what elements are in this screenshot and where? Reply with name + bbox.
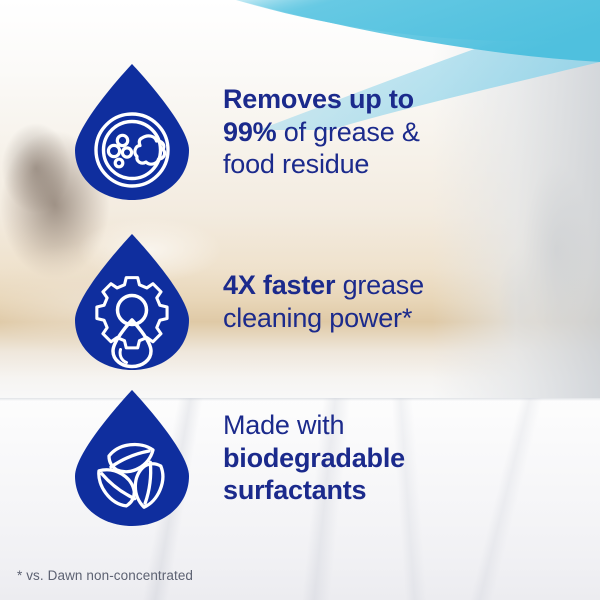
feature-line: surfactants bbox=[223, 474, 405, 507]
droplet-shape bbox=[75, 390, 189, 526]
plate-with-bubbles-icon bbox=[73, 62, 191, 202]
feature-segment: 4X faster bbox=[223, 270, 335, 300]
feature-row-4x-faster: 4X faster grease cleaning power* bbox=[0, 232, 600, 372]
feature-row-biodegradable: Made with biodegradable surfactants bbox=[0, 388, 600, 528]
feature-segment: 99% bbox=[223, 117, 276, 147]
footnote-disclaimer: * vs. Dawn non-concentrated bbox=[17, 568, 193, 583]
feature-segment: of grease & bbox=[276, 117, 419, 147]
droplet-shape bbox=[75, 234, 189, 370]
feature-line: cleaning power* bbox=[223, 302, 424, 335]
feature-text-3: Made with biodegradable surfactants bbox=[223, 409, 405, 507]
feature-text-2: 4X faster grease cleaning power* bbox=[223, 269, 424, 334]
feature-segment: cleaning power* bbox=[223, 303, 412, 333]
feature-line: Made with bbox=[223, 409, 405, 442]
feature-segment: Made with bbox=[223, 410, 344, 440]
poster-canvas: Removes up to 99% of grease & food resid… bbox=[0, 0, 600, 600]
droplet-badge-3 bbox=[73, 388, 191, 528]
feature-line: Removes up to bbox=[223, 83, 420, 116]
swoosh-primary-wave-body bbox=[236, 0, 600, 62]
feature-segment: surfactants bbox=[223, 475, 366, 505]
gear-with-droplet-icon bbox=[73, 232, 191, 372]
feature-line: biodegradable bbox=[223, 442, 405, 475]
droplet-badge-2 bbox=[73, 232, 191, 372]
feature-text-1: Removes up to 99% of grease & food resid… bbox=[223, 83, 420, 181]
feature-line: 99% of grease & bbox=[223, 116, 420, 149]
feature-segment: Removes up to bbox=[223, 84, 414, 114]
feature-segment: food residue bbox=[223, 149, 369, 179]
recycle-leaves-icon bbox=[73, 388, 191, 528]
feature-row-removes-grease: Removes up to 99% of grease & food resid… bbox=[0, 62, 600, 202]
droplet-badge-1 bbox=[73, 62, 191, 202]
feature-line: food residue bbox=[223, 148, 420, 181]
feature-segment: grease bbox=[335, 270, 424, 300]
feature-segment: biodegradable bbox=[223, 443, 405, 473]
feature-line: 4X faster grease bbox=[223, 269, 424, 302]
